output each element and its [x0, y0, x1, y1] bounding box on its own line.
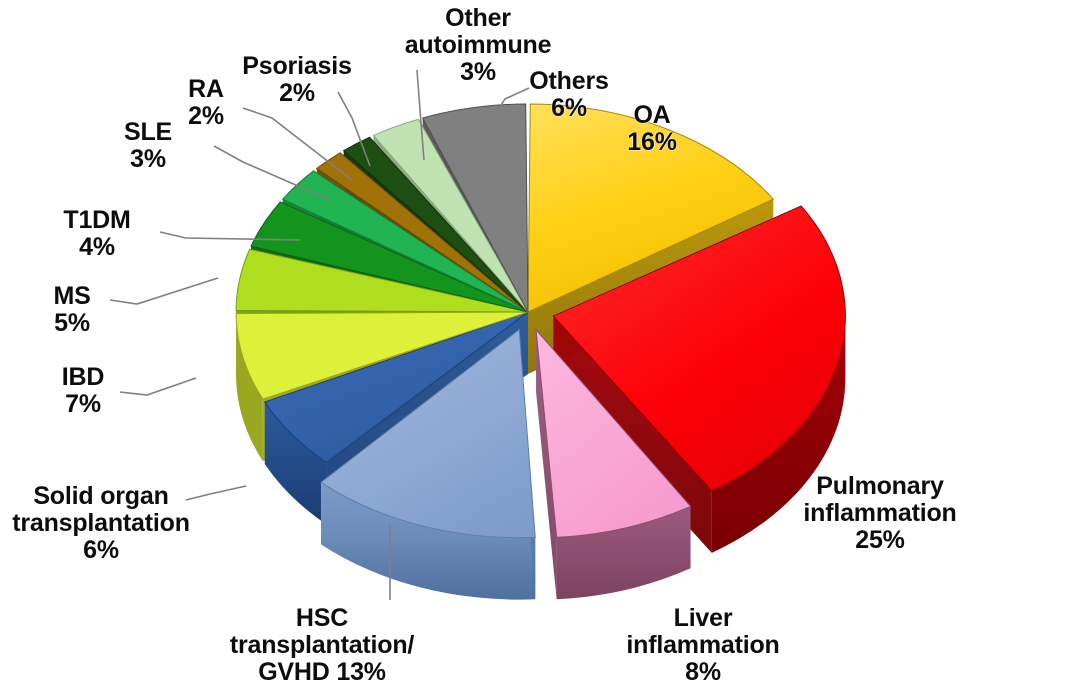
pie-label-name: SLE [124, 119, 172, 146]
pie-label-name: Pulmonary [803, 473, 956, 500]
pie-label-name: Other [405, 5, 552, 32]
pie-label-others: Others6% [529, 68, 608, 122]
pie-label-percent: 8% [626, 659, 779, 686]
pie-label-ms: MS5% [53, 283, 90, 337]
pie-label-name: IBD [62, 364, 104, 391]
pie-label-name: OA [627, 102, 676, 129]
pie-label-name: RA [188, 76, 224, 103]
pie-label-percent: 2% [188, 103, 224, 130]
pie-label-name: HSC [230, 605, 414, 632]
pie-label-pulmonary-inflammation: Pulmonaryinflammation25% [803, 473, 956, 554]
leader-line-ibd [120, 378, 196, 395]
pie-label-percent: 16% [627, 129, 676, 156]
pie-label-ibd: IBD7% [62, 364, 104, 418]
pie-label-percent: 5% [53, 310, 90, 337]
pie-label-percent: GVHD 13% [230, 659, 414, 686]
pie-label-name: Others [529, 68, 608, 95]
pie-label-percent: 4% [63, 234, 130, 261]
pie-label-name-line2: autoimmune [405, 32, 552, 59]
pie-label-sle: SLE3% [124, 119, 172, 173]
pie-label-name: Solid organ [12, 483, 190, 510]
pie-label-name: T1DM [63, 207, 130, 234]
pie-label-name: Liver [626, 605, 779, 632]
pie-label-name-line2: inflammation [803, 500, 956, 527]
pie-label-name-line2: transplantation [12, 510, 190, 537]
pie-label-percent: 2% [242, 80, 351, 107]
pie-label-percent: 25% [803, 527, 956, 554]
pie-label-name: Psoriasis [242, 53, 351, 80]
pie-label-solid-organ-transplantation: Solid organtransplantation6% [12, 483, 190, 564]
leader-line-solid-organ [186, 486, 246, 500]
pie-label-percent: 6% [12, 537, 190, 564]
pie-label-ra: RA2% [188, 76, 224, 130]
pie-label-t1dm: T1DM4% [63, 207, 130, 261]
pie-label-name-line2: inflammation [626, 632, 779, 659]
pie-label-percent: 3% [124, 146, 172, 173]
pie-label-liver-inflammation: Liverinflammation8% [626, 605, 779, 686]
leader-line-ms [110, 278, 218, 304]
pie-label-percent: 6% [529, 95, 608, 122]
pie-label-name-line2: transplantation/ [230, 632, 414, 659]
pie-label-psoriasis: Psoriasis2% [242, 53, 351, 107]
pie-label-oa: OA16% [627, 102, 676, 156]
pie-label-name: MS [53, 283, 90, 310]
pie-label-percent: 7% [62, 391, 104, 418]
pie-chart-figure: OA 16%Pulmonary inflammation 25%Liver in… [0, 0, 1080, 697]
pie-label-hsc-transplantation-gvhd: HSCtransplantation/GVHD 13% [230, 605, 414, 686]
